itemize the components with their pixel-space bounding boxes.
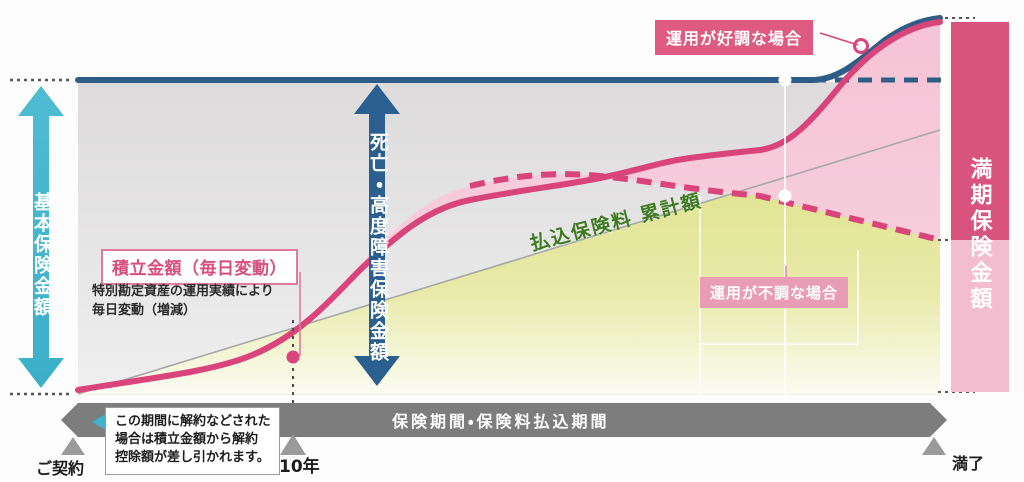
ten-year-point [287,351,300,364]
surrender-note-line2: 場合は積立金額から解約 [115,431,271,449]
marker-label-contract: ご契約 [36,455,84,479]
surrender-note-line3: 控除額が差し引かれます。 [115,449,271,467]
accumulation-amount-box: 積立金額（毎日変動） [101,249,298,285]
period-bar-label: 保険期間・保険料払込期間 [392,408,609,432]
good-badge-leader [820,33,858,45]
surrender-note-box: この期間に解約などされた 場合は積立金額から解約 控除額が差し引かれます。 [105,407,280,475]
basic-amount-label: 基本保険金額 [26,120,56,390]
surrender-note-line1: この期間に解約などされた [115,413,271,431]
death-amount-label: 死亡・高度障害保険金額 [362,110,392,385]
insurance-diagram: 基本保険金額 死亡・高度障害保険金額 満期保険金額 運用が好調な場合 運用が不調… [0,0,1024,482]
good-performance-badge: 運用が好調な場合 [655,20,813,55]
accumulation-note: 特別勘定資産の運用実績により 毎日変動（増減） [92,283,274,321]
good-performance-point [855,40,868,53]
expiry-marker-triangle [922,437,946,455]
accumulation-note-line1: 特別勘定資産の運用実績により [92,283,274,302]
marker-label-ten-years: 10年 [279,452,320,477]
maturity-amount-label: 満期保険金額 [963,85,995,385]
poor-performance-point [779,190,792,203]
basic-line-point [779,74,792,87]
poor-performance-badge: 運用が不調な場合 [700,277,848,308]
contract-marker-triangle [61,437,85,455]
marker-label-expiry: 満了 [952,450,984,474]
accumulation-note-line2: 毎日変動（増減） [92,302,274,321]
